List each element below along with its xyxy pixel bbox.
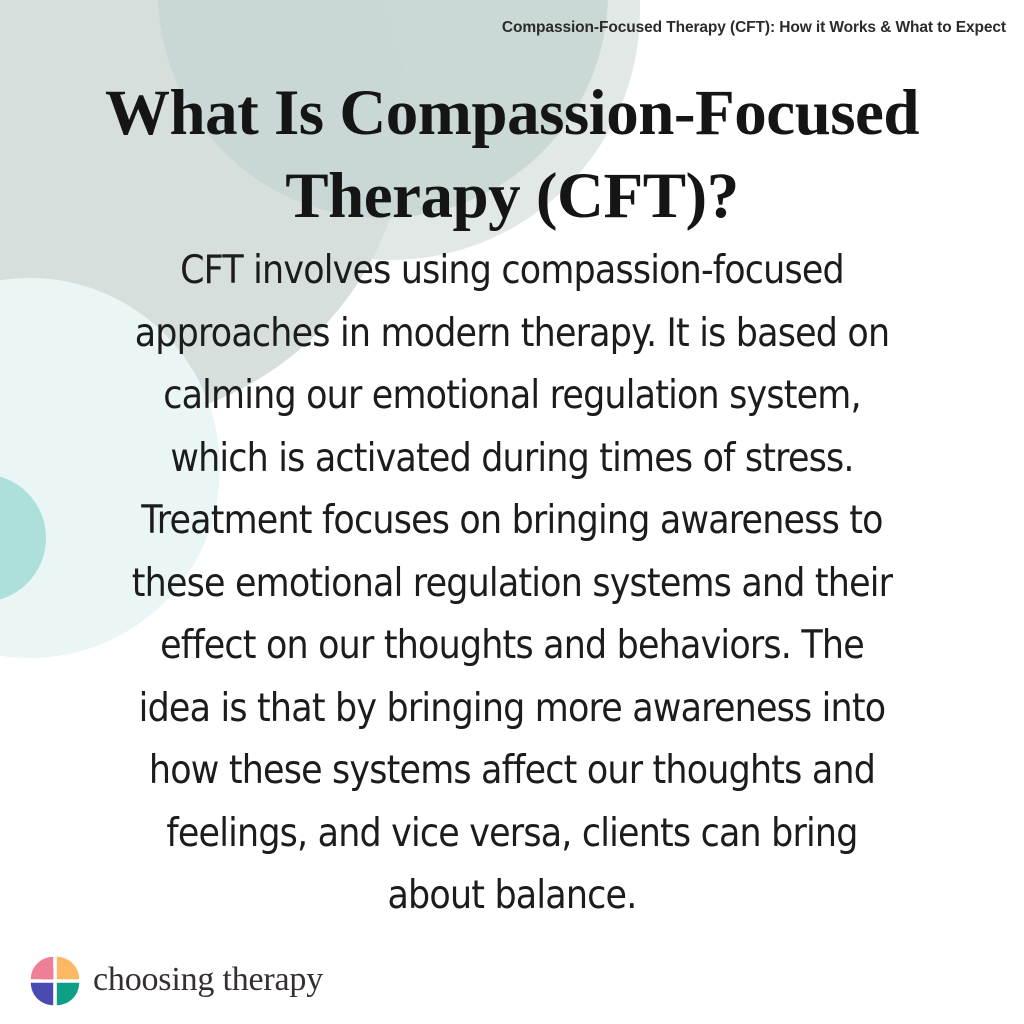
body-paragraph: CFT involves using compassion-focused ap… (129, 240, 895, 928)
header-caption: Compassion-Focused Therapy (CFT): How it… (502, 19, 1006, 37)
brand-wordmark: choosing therapy (93, 963, 323, 1000)
social-card: Compassion-Focused Therapy (CFT): How it… (0, 0, 1024, 1024)
choosing-therapy-pinwheel-icon (30, 956, 80, 1006)
page-title: What Is Compassion-Focused Therapy (CFT)… (40, 72, 984, 238)
brand-logo[interactable]: choosing therapy (30, 956, 323, 1006)
